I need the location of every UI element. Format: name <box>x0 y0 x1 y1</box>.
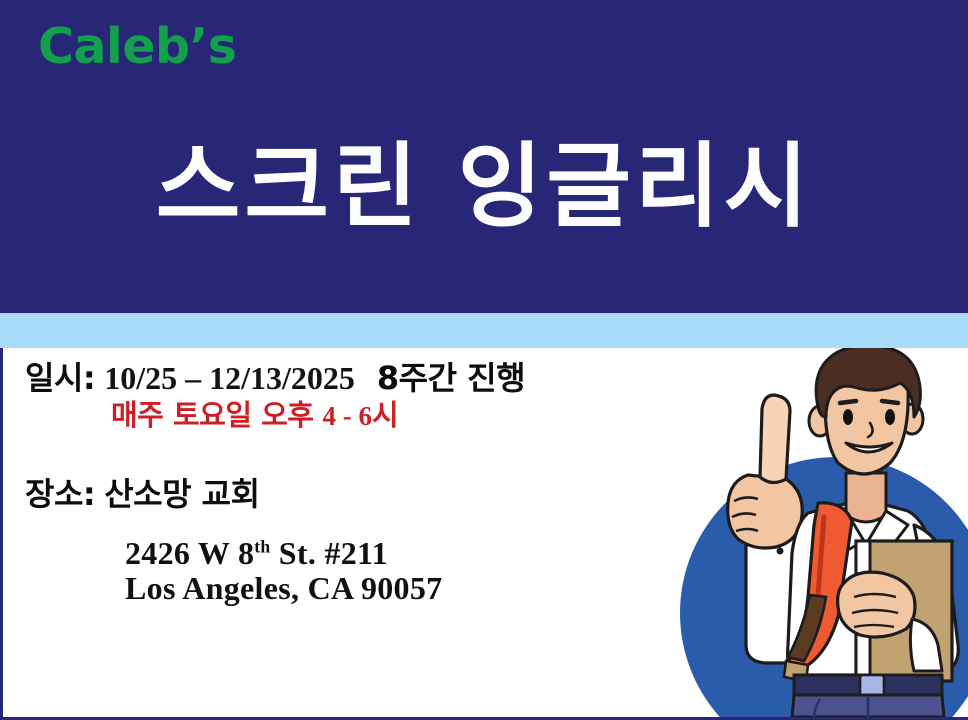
info-block: 일시:10/25 – 12/13/20258주간 진행 매주 토요일 오후4 -… <box>25 362 725 607</box>
body-panel: 일시:10/25 – 12/13/20258주간 진행 매주 토요일 오후4 -… <box>0 348 968 720</box>
shirt-placket <box>866 543 868 655</box>
eye-left <box>843 409 853 425</box>
book-cover <box>856 541 952 681</box>
belt <box>794 675 942 695</box>
eyebrow-right <box>882 401 898 403</box>
address-line-2: Los Angeles, CA 90057 <box>125 571 725 607</box>
right-arm <box>914 525 958 671</box>
brand-logo: Caleb’s <box>38 22 236 71</box>
hand-holding-book <box>838 572 915 637</box>
face <box>825 361 908 474</box>
eyebrow-left <box>840 401 856 403</box>
nose <box>868 423 873 437</box>
address-street-rest: St. #211 <box>271 535 388 571</box>
time-korean: 매주 토요일 오후 <box>111 398 313 432</box>
pants <box>792 695 944 717</box>
eye-right <box>885 409 895 425</box>
address-line-1: 2426 W 8th St. #211 <box>125 536 725 572</box>
mouth <box>846 443 892 452</box>
strap-seam <box>818 517 824 595</box>
venue-label: 장소: <box>25 475 95 513</box>
strap-end <box>784 661 808 681</box>
neck <box>846 473 886 522</box>
time-range: 4 - 6 <box>322 401 372 431</box>
address-ordinal-suffix: th <box>254 536 270 556</box>
page-title: 스크린 잉글리시 <box>0 134 968 240</box>
time-suffix: 시 <box>372 398 398 432</box>
poster-root: Caleb’s 스크린 잉글리시 일시:10/25 – 12/13/20258주… <box>0 0 968 720</box>
address-street-number: 2426 W 8 <box>125 535 254 571</box>
ear-right <box>901 404 923 434</box>
book-bookmark <box>908 675 928 689</box>
hair <box>816 348 920 417</box>
strap-buckle <box>788 595 826 661</box>
belt-buckle <box>860 675 884 697</box>
shirt-button <box>864 566 870 572</box>
pointing-hand <box>728 395 806 663</box>
schedule-label: 일시: <box>25 359 95 397</box>
backpack-strap <box>786 503 852 665</box>
finger-crease-3 <box>854 625 894 627</box>
ear-left <box>809 406 831 436</box>
header-band: Caleb’s 스크린 잉글리시 <box>0 0 968 313</box>
pants-pocket-line <box>814 699 820 717</box>
accent-stripe <box>0 313 968 348</box>
schedule-line: 일시:10/25 – 12/13/20258주간 진행 <box>25 362 725 396</box>
time-line: 매주 토요일 오후4 - 6시 <box>111 400 725 430</box>
venue-name: 산소망 교회 <box>104 475 259 513</box>
collar-right <box>868 511 908 551</box>
shirt-body <box>788 499 939 675</box>
book-pages <box>856 541 870 681</box>
finger-crease-1 <box>854 594 896 597</box>
schedule-dates: 10/25 – 12/13/2025 <box>104 360 355 396</box>
finger-crease-2 <box>852 610 898 613</box>
address-block: 2426 W 8th St. #211 Los Angeles, CA 9005… <box>125 536 725 608</box>
venue-line: 장소:산소망 교회 <box>25 478 725 512</box>
collar-left <box>828 511 864 551</box>
schedule-duration: 8주간 진행 <box>377 359 525 397</box>
right-cuff <box>910 619 942 671</box>
